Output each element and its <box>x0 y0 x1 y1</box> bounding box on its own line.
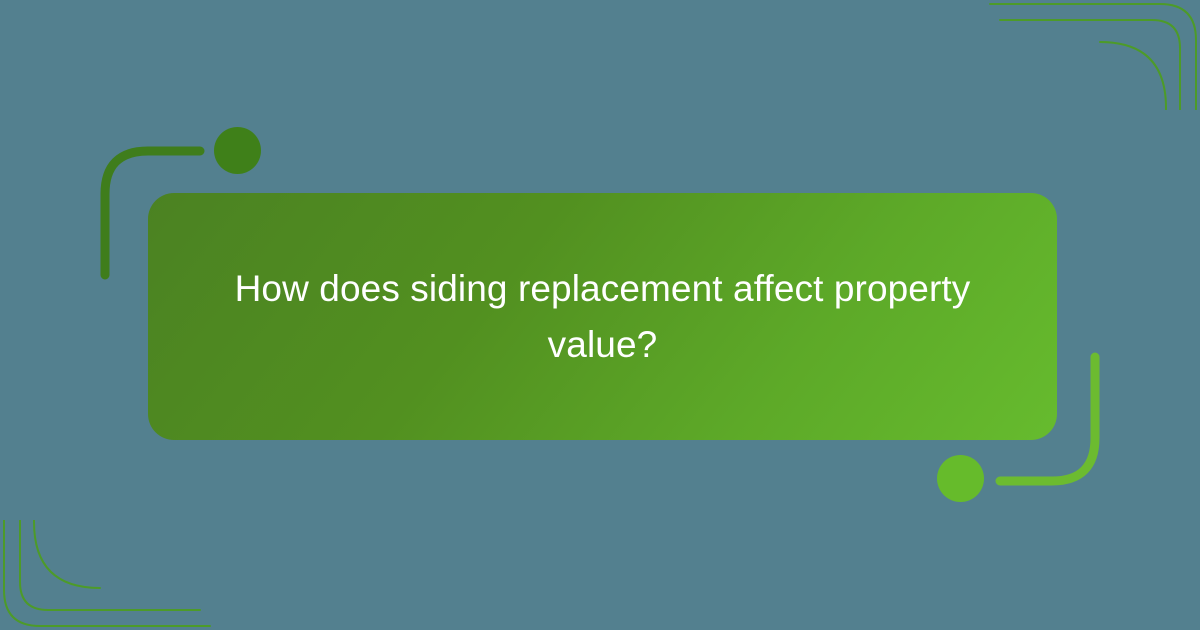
promo-banner: How does siding replacement affect prope… <box>0 0 1200 630</box>
question-card: How does siding replacement affect prope… <box>148 193 1057 440</box>
corner-line-inner <box>34 520 100 588</box>
accent-dot-top-left <box>214 127 261 174</box>
corner-line-group-top-right <box>970 0 1200 110</box>
corner-line-outer <box>990 4 1196 110</box>
corner-line-outer <box>4 520 210 626</box>
corner-line-inner <box>1100 42 1166 110</box>
corner-line-group-bottom-left <box>0 520 230 630</box>
card-title: How does siding replacement affect prope… <box>218 261 987 372</box>
corner-line-middle <box>20 520 200 610</box>
corner-line-middle <box>1000 20 1180 110</box>
accent-dot-bottom-right <box>937 455 984 502</box>
